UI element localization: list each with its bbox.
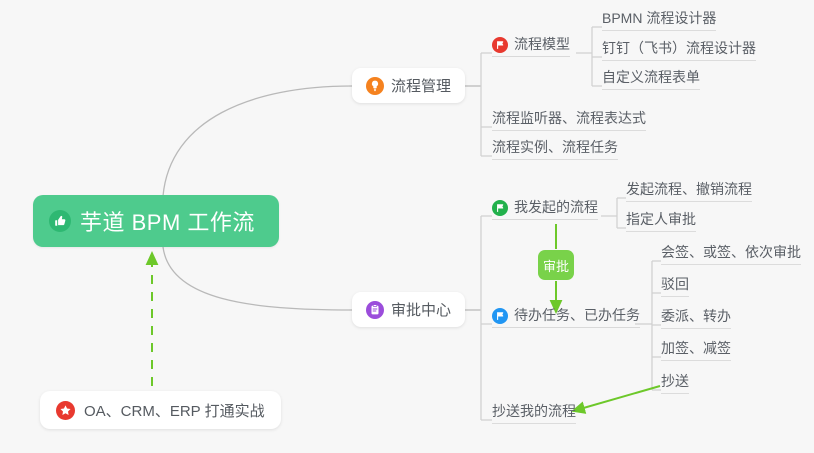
node-label: 流程实例、流程任务	[492, 138, 618, 156]
node-cc-to-me-process[interactable]: 抄送我的流程	[492, 398, 576, 424]
flag-icon	[492, 200, 508, 216]
root-node[interactable]: 芋道 BPM 工作流	[33, 195, 279, 247]
branch-node-approval-center[interactable]: 审批中心	[352, 292, 465, 327]
branch-label: 审批中心	[391, 299, 451, 320]
branch-label: 流程管理	[391, 75, 451, 96]
relation-tag-label: 审批	[543, 256, 569, 275]
node-label: 流程模型	[514, 35, 570, 53]
node-cc[interactable]: 抄送	[661, 368, 689, 394]
node-label: 驳回	[661, 275, 689, 293]
root-label: 芋道 BPM 工作流	[80, 205, 255, 237]
node-process-listener-expression[interactable]: 流程监听器、流程表达式	[492, 105, 646, 131]
node-process-model[interactable]: 流程模型	[492, 31, 570, 57]
node-custom-process-form[interactable]: 自定义流程表单	[602, 64, 700, 90]
node-label: BPMN 流程设计器	[602, 9, 716, 27]
node-label: 会签、或签、依次审批	[661, 243, 801, 261]
callout-label: OA、CRM、ERP 打通实战	[84, 400, 265, 421]
node-reject[interactable]: 驳回	[661, 271, 689, 297]
node-label: 委派、转办	[661, 307, 731, 325]
node-label: 加签、减签	[661, 339, 731, 357]
node-dingtalk-feishu-designer[interactable]: 钉钉（飞书）流程设计器	[602, 35, 756, 61]
node-process-instance-task[interactable]: 流程实例、流程任务	[492, 134, 618, 160]
node-start-cancel-process[interactable]: 发起流程、撤销流程	[626, 176, 752, 202]
lightbulb-icon	[366, 77, 384, 95]
branch-node-process-management[interactable]: 流程管理	[352, 68, 465, 103]
node-my-initiated-process[interactable]: 我发起的流程	[492, 194, 598, 220]
node-label: 流程监听器、流程表达式	[492, 109, 646, 127]
node-label: 自定义流程表单	[602, 68, 700, 86]
node-label: 指定人审批	[626, 210, 696, 228]
node-label: 抄送	[661, 372, 689, 390]
relation-tag-approval[interactable]: 审批	[538, 250, 574, 280]
star-icon	[56, 401, 75, 420]
thumbs-up-icon	[49, 210, 71, 232]
clipboard-icon	[366, 301, 384, 319]
node-label: 发起流程、撤销流程	[626, 180, 752, 198]
callout-integration-practice[interactable]: OA、CRM、ERP 打通实战	[40, 391, 281, 429]
flag-icon	[492, 37, 508, 53]
flag-icon	[492, 308, 508, 324]
node-label: 抄送我的流程	[492, 402, 576, 420]
node-countersign-approval[interactable]: 会签、或签、依次审批	[661, 239, 801, 265]
node-assigned-approver[interactable]: 指定人审批	[626, 206, 696, 232]
node-label: 待办任务、已办任务	[514, 306, 640, 324]
node-bpmn-designer[interactable]: BPMN 流程设计器	[602, 5, 716, 31]
node-delegate-transfer[interactable]: 委派、转办	[661, 303, 731, 329]
node-todo-done-tasks[interactable]: 待办任务、已办任务	[492, 302, 640, 328]
node-add-remove-sign[interactable]: 加签、减签	[661, 335, 731, 361]
node-label: 钉钉（飞书）流程设计器	[602, 39, 756, 57]
node-label: 我发起的流程	[514, 198, 598, 216]
mindmap-canvas: 芋道 BPM 工作流 流程管理 流程模型 BPMN 流程设计器 钉钉（飞书）流程…	[0, 0, 814, 453]
